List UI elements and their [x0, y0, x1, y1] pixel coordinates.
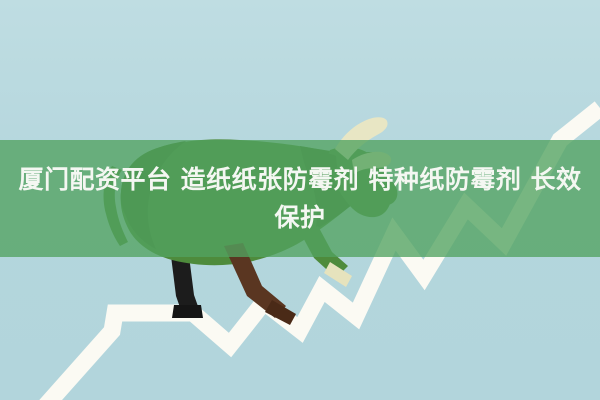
headline-container: 厦门配资平台 造纸纸张防霉剂 特种纸防霉剂 长效保护 — [0, 140, 600, 257]
banner-image: 厦门配资平台 造纸纸张防霉剂 特种纸防霉剂 长效保护 — [0, 0, 600, 400]
page-title: 厦门配资平台 造纸纸张防霉剂 特种纸防霉剂 长效保护 — [8, 161, 592, 237]
bull-hind-leg-hoof-back — [172, 305, 203, 318]
